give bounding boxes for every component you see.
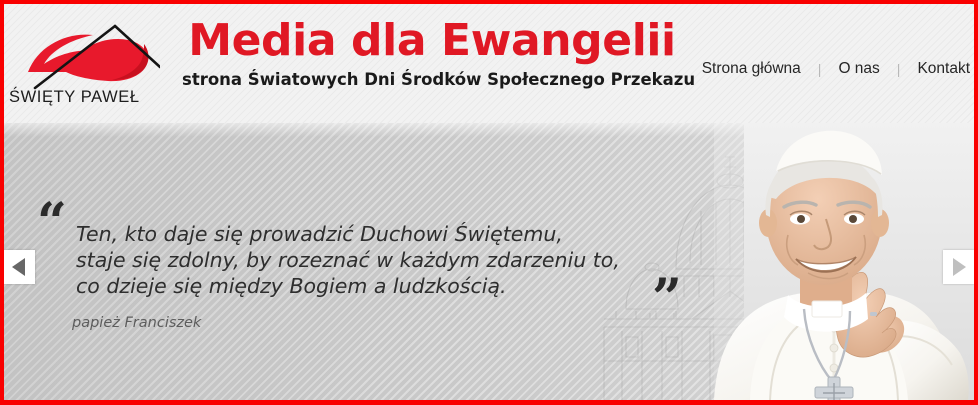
logo-text: ŚWIĘTY PAWEŁ <box>9 88 159 107</box>
nav-item-about[interactable]: O nas <box>834 60 883 78</box>
page-subtitle: strona Światowych Dni Środków Społeczneg… <box>182 70 682 89</box>
quote-line: staje się zdolny, by rozeznać w każdym z… <box>76 247 676 273</box>
chevron-right-icon <box>953 258 966 276</box>
site-logo[interactable]: ŚWIĘTY PAWEŁ <box>8 12 160 116</box>
main-navigation: Strona główna | O nas | Kontakt <box>698 60 974 78</box>
swiety-pawel-sail-logo-icon <box>8 12 160 90</box>
nav-item-contact[interactable]: Kontakt <box>913 60 974 78</box>
hero-slider: “ Ten, kto daje się prowadzić Duchowi Św… <box>4 123 974 400</box>
site-title-block: Media dla Ewangelii strona Światowych Dn… <box>182 18 682 89</box>
chevron-left-icon <box>12 258 25 276</box>
quote-text: Ten, kto daje się prowadzić Duchowi Świę… <box>76 221 676 299</box>
slider-prev-button[interactable] <box>4 250 35 284</box>
quote-open-mark: “ <box>37 197 67 249</box>
page-title: Media dla Ewangelii <box>182 18 682 64</box>
quote-author: papież Franciszek <box>72 315 201 331</box>
quote-line: co dzieje się między Bogiem a ludzkością… <box>76 273 676 299</box>
quote-close-mark: ” <box>652 273 682 325</box>
nav-item-home[interactable]: Strona główna <box>698 60 805 78</box>
nav-separator: | <box>884 61 914 77</box>
slider-next-button[interactable] <box>943 250 974 284</box>
footer-strip <box>4 400 974 405</box>
quote-line: Ten, kto daje się prowadzić Duchowi Świę… <box>76 221 676 247</box>
nav-separator: | <box>805 61 835 77</box>
site-header: ŚWIĘTY PAWEŁ Media dla Ewangelii strona … <box>4 4 974 123</box>
pope-francis-photo <box>684 123 974 400</box>
page-root: ŚWIĘTY PAWEŁ Media dla Ewangelii strona … <box>0 0 978 405</box>
